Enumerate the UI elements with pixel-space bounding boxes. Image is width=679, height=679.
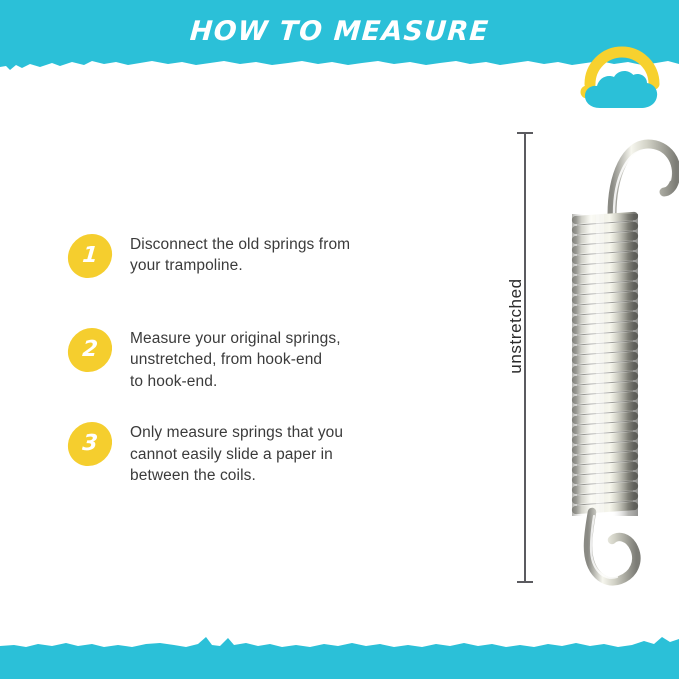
sun-and-cloud-logo: [576, 34, 670, 112]
trampoline-spring-image: [530, 120, 679, 590]
spring-measurement-area: unstretched: [490, 120, 679, 600]
infographic-page: HOW TO MEASURE 1 Disconnect the old spri…: [0, 0, 679, 679]
step-item-1: 1 Disconnect the old springs from your t…: [68, 228, 408, 298]
step-number-badge-3: 3: [66, 422, 114, 466]
step-text-3: Only measure springs that you cannot eas…: [130, 416, 408, 486]
step-item-3: 3 Only measure springs that you cannot e…: [68, 416, 408, 486]
step-number-badge-1: 1: [66, 234, 114, 278]
footer-band: [0, 647, 679, 679]
measure-label: unstretched: [506, 256, 526, 396]
steps-list: 1 Disconnect the old springs from your t…: [68, 228, 408, 510]
step-number-badge-2: 2: [66, 328, 114, 372]
step-item-2: 2 Measure your original springs, unstret…: [68, 322, 408, 392]
step-text-1: Disconnect the old springs from your tra…: [130, 228, 408, 277]
step-text-2: Measure your original springs, unstretch…: [130, 322, 408, 392]
